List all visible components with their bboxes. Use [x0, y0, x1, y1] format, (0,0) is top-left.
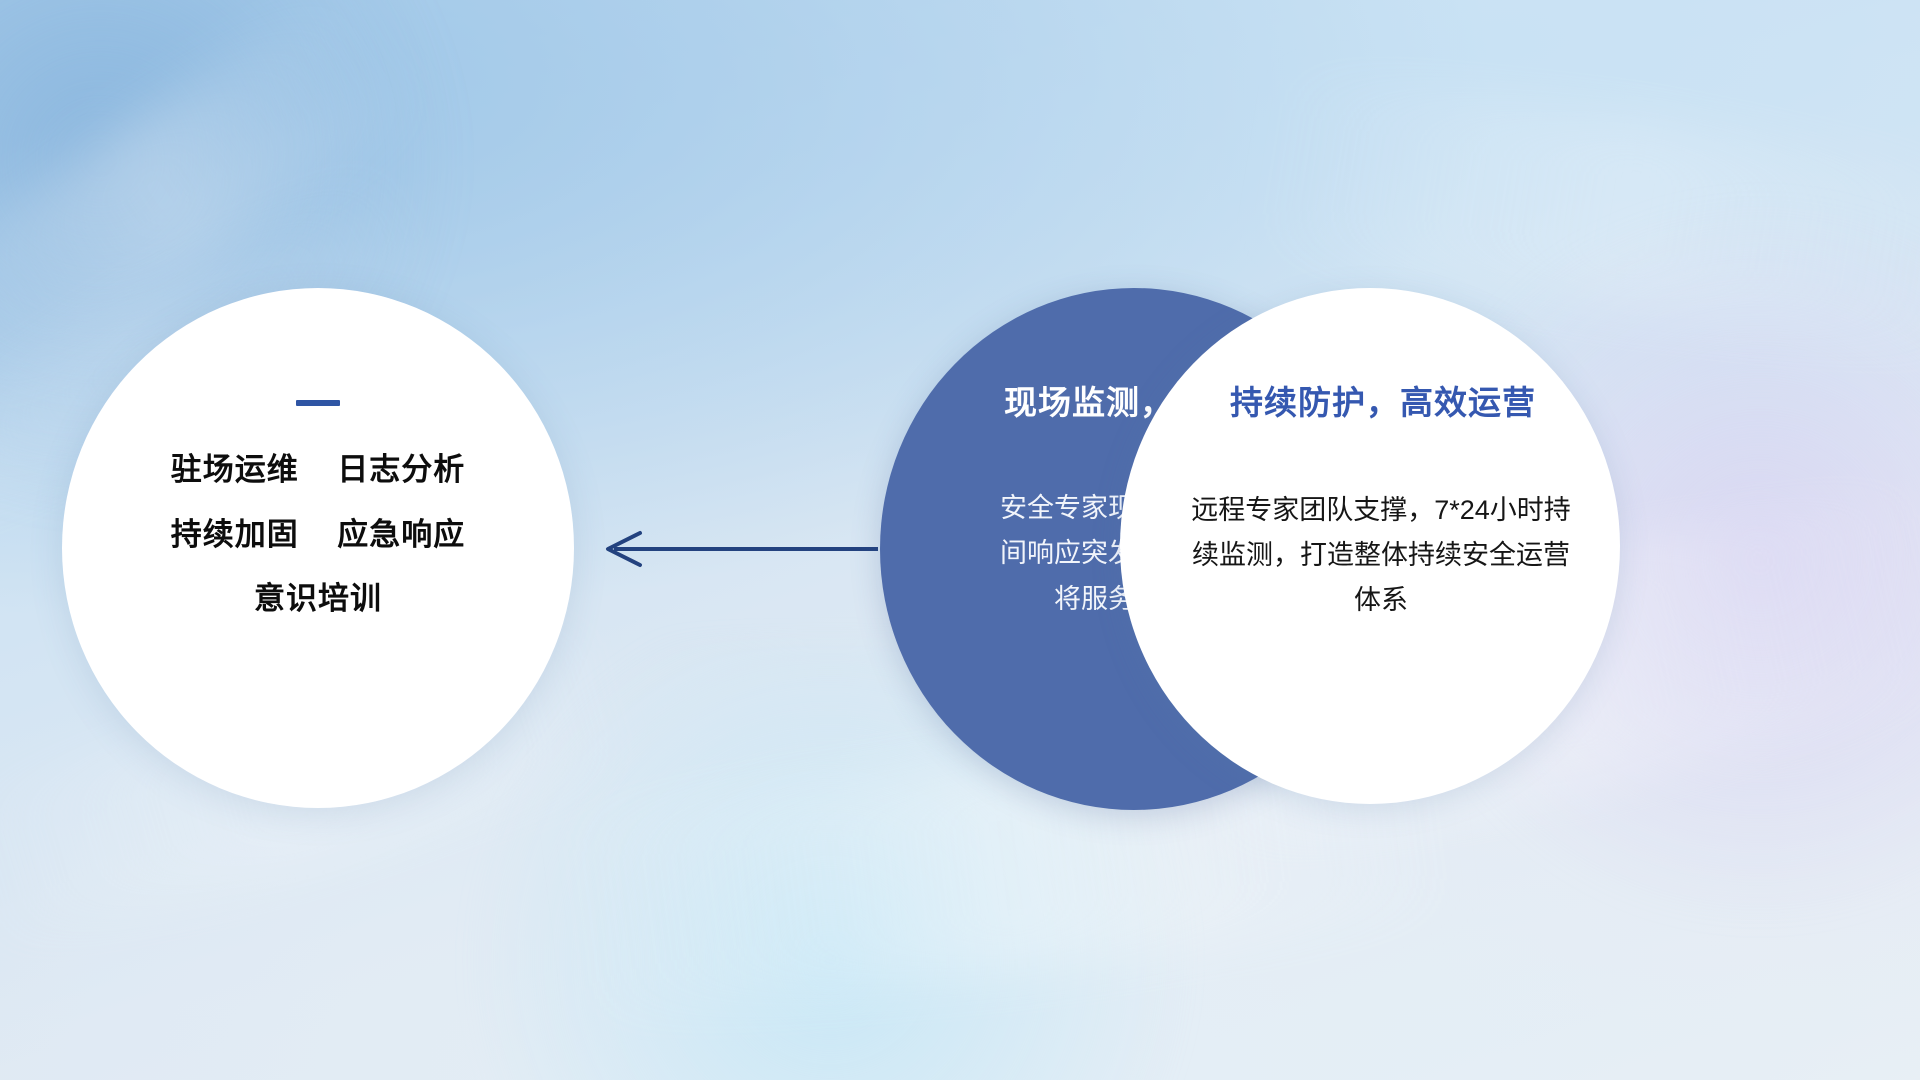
bubble-right-description: 远程专家团队支撑，7*24小时持续监测，打造整体持续安全运营体系 [1191, 488, 1571, 622]
divider-dash-icon [296, 400, 340, 406]
capability-tag-row: 意识培训 [62, 583, 574, 616]
capability-tag-row: 持续加固 应急响应 [62, 519, 574, 552]
capability-tag-row: 驻场运维 日志分析 [62, 454, 574, 487]
bubble-right-title: 持续防护，高效运营 [1204, 376, 1536, 424]
capability-tag-list: 驻场运维 日志分析 持续加固 应急响应 意识培训 [62, 454, 574, 616]
arrow-shaft-group [608, 533, 878, 565]
capability-bubble-left[interactable]: 驻场运维 日志分析 持续加固 应急响应 意识培训 [62, 288, 574, 808]
capability-bubble-right[interactable]: 持续防护，高效运营 远程专家团队支撑，7*24小时持续监测，打造整体持续安全运营… [1120, 288, 1620, 804]
